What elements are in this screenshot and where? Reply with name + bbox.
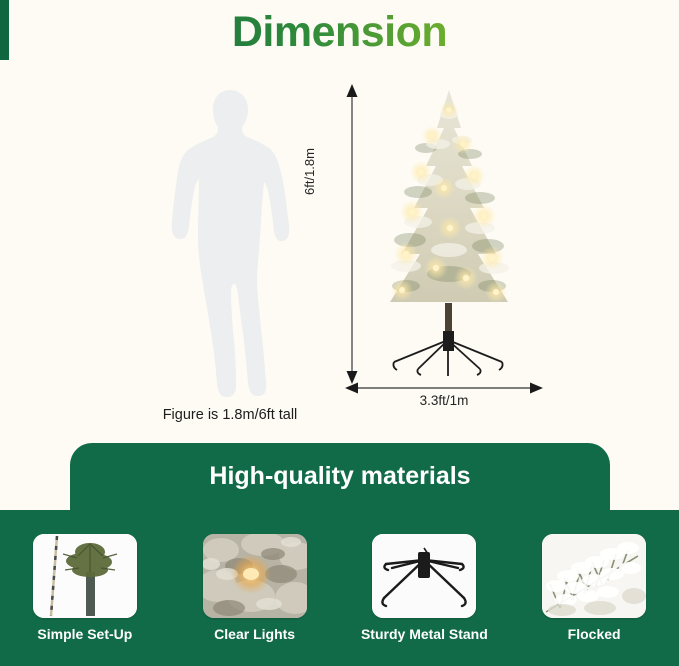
feature-label: Flocked: [568, 626, 621, 642]
feature-label: Sturdy Metal Stand: [361, 626, 488, 642]
feature-label: Clear Lights: [214, 626, 295, 642]
feature-item[interactable]: Clear Lights: [170, 534, 340, 666]
feature-item[interactable]: Flocked: [509, 534, 679, 666]
page-title: Dimension: [0, 8, 679, 57]
feature-item[interactable]: Sturdy Metal Stand: [340, 534, 510, 666]
product-infographic-page: Dimension Figure is 1.8m/6ft tall 6ft/1.…: [0, 0, 679, 666]
feature-item[interactable]: Simple Set-Up: [0, 534, 170, 666]
human-figure-silhouette: [168, 88, 292, 398]
height-dimension-label: 6ft/1.8m: [302, 148, 317, 195]
feature-list: Simple Set-Up: [0, 534, 679, 666]
tree-pole-assembly-photo[interactable]: [33, 534, 137, 618]
materials-banner-title: High-quality materials: [70, 462, 610, 491]
figure-caption: Figure is 1.8m/6ft tall: [110, 407, 350, 423]
flocked-branch-closeup-photo[interactable]: [542, 534, 646, 618]
height-dimension-arrow: [345, 84, 359, 384]
width-dimension-label: 3.3ft/1m: [345, 393, 543, 408]
flocked-christmas-tree-image: [366, 88, 532, 376]
feature-label: Simple Set-Up: [37, 626, 132, 642]
warm-white-light-closeup-photo[interactable]: [203, 534, 307, 618]
black-metal-tree-stand-photo[interactable]: [372, 534, 476, 618]
